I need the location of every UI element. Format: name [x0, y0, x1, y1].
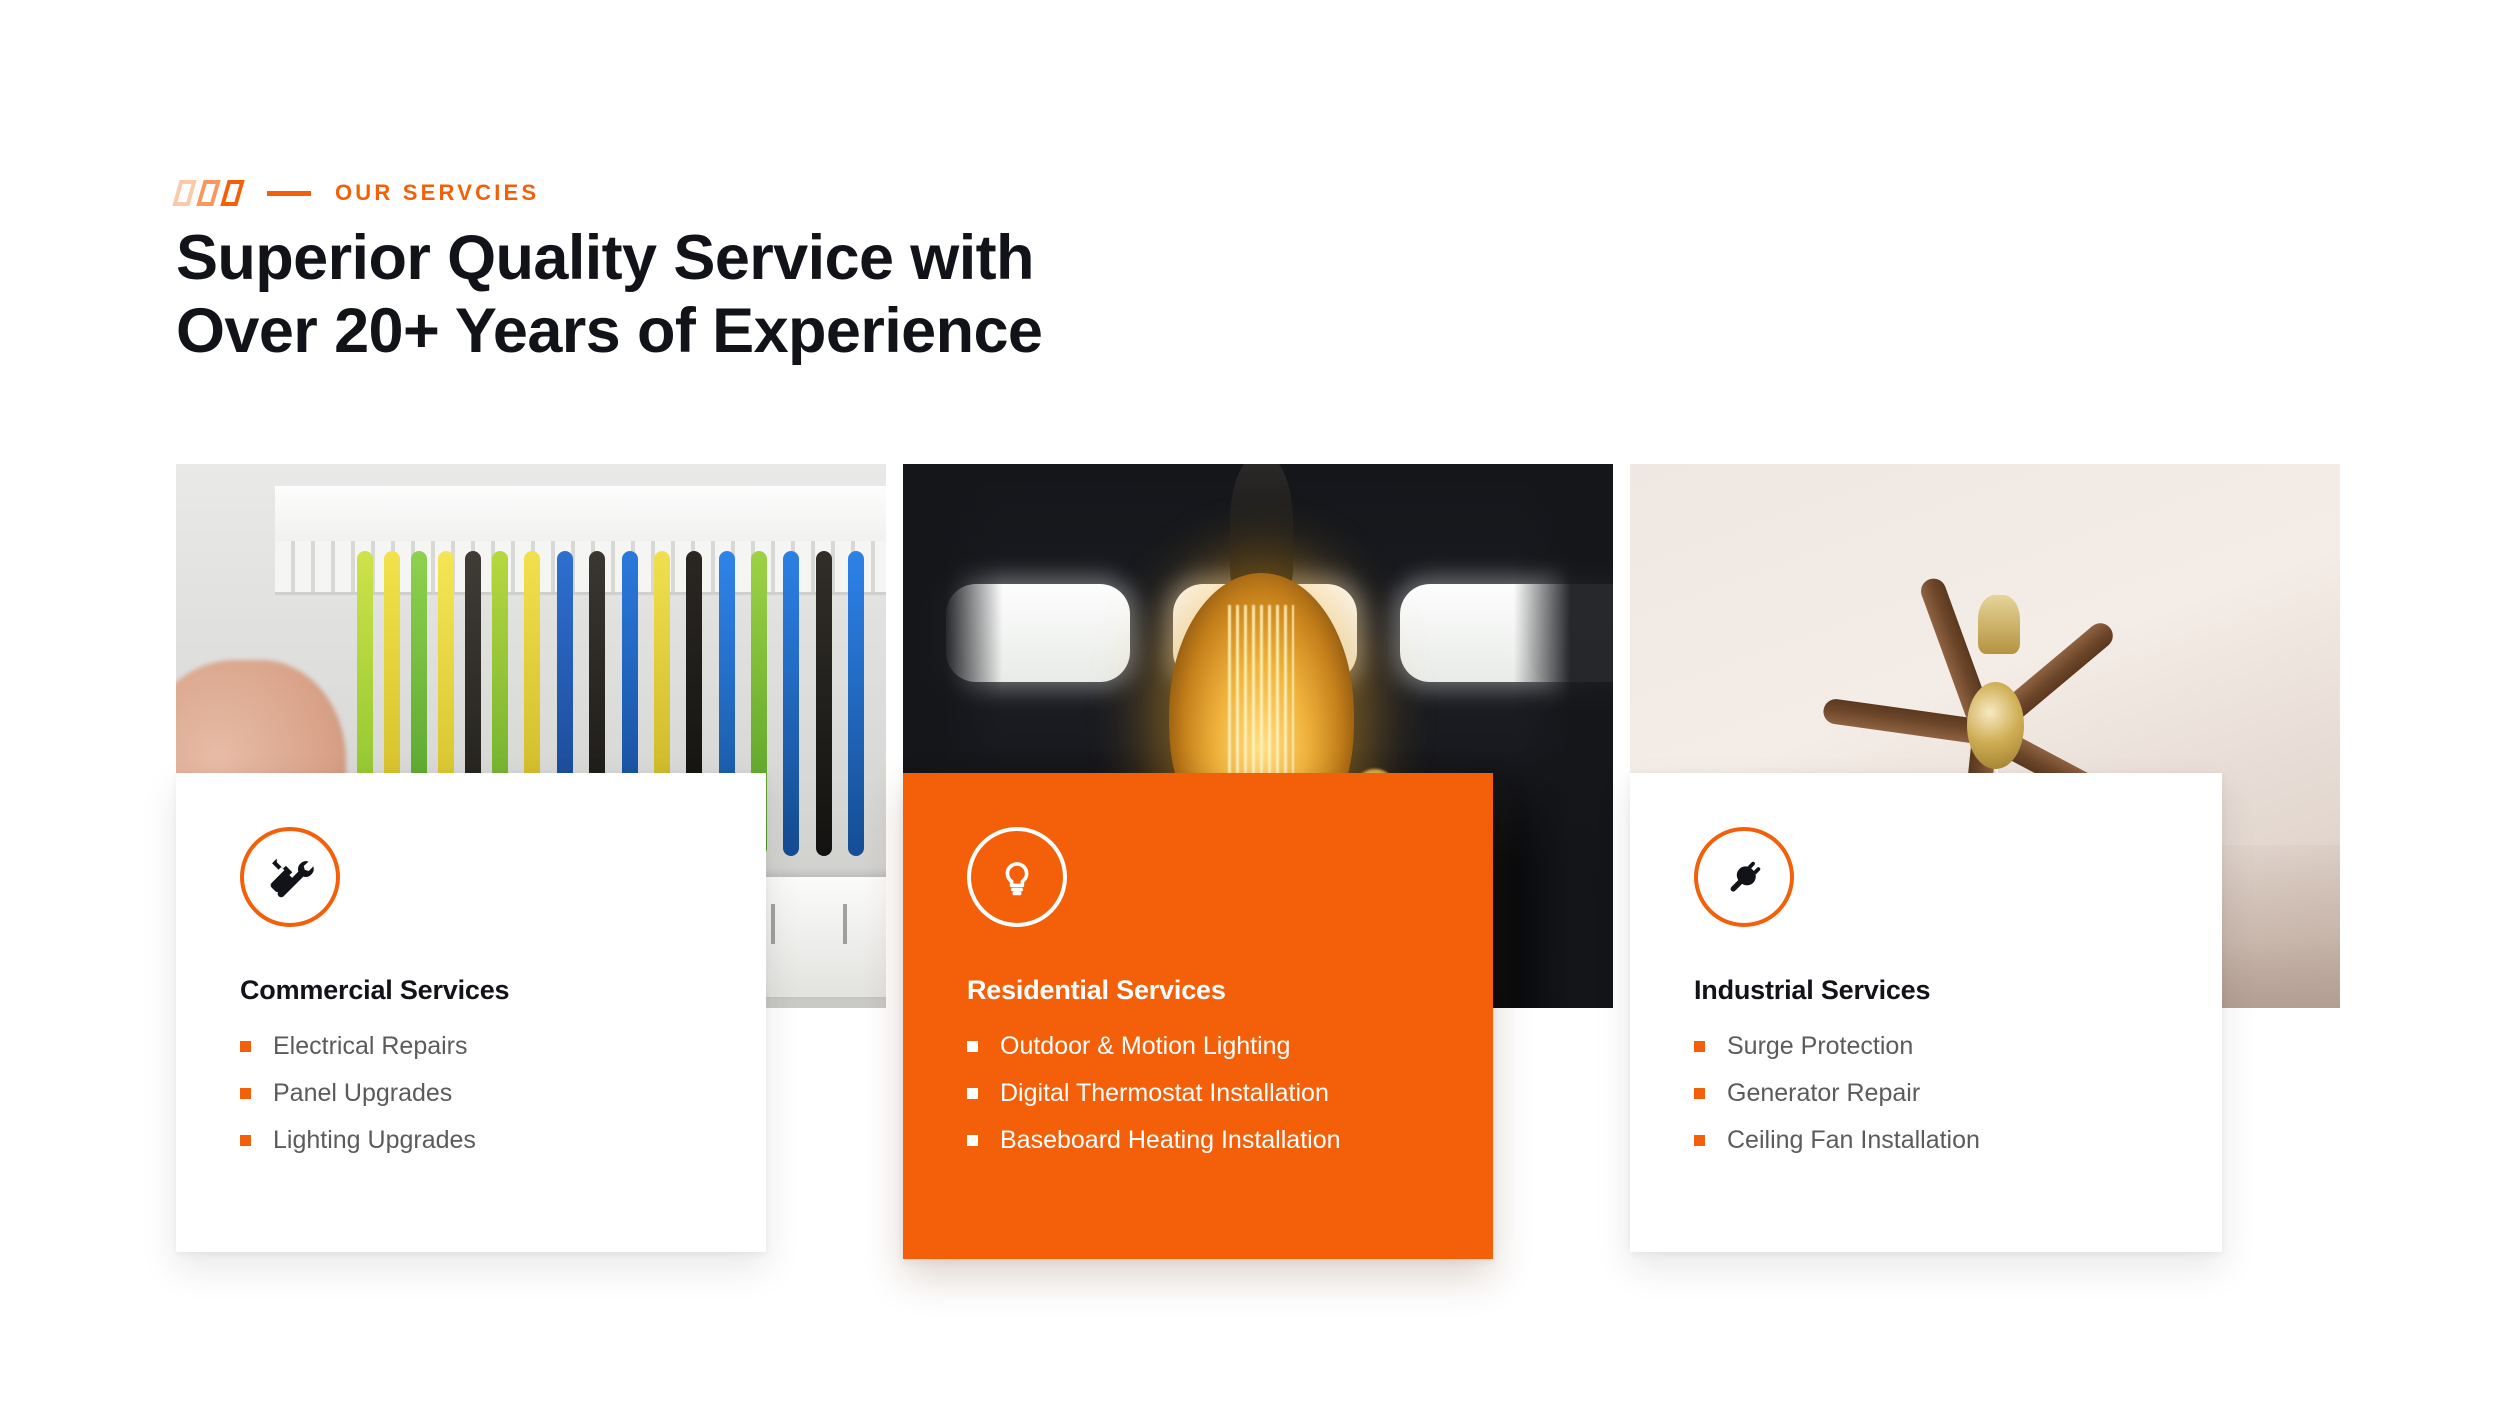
bullet-square-icon [240, 1041, 251, 1052]
service-item-label: Surge Protection [1727, 1032, 1913, 1061]
bullet-square-icon [240, 1135, 251, 1146]
list-item[interactable]: Outdoor & Motion Lighting [967, 1032, 1463, 1061]
list-item[interactable]: Baseboard Heating Installation [967, 1126, 1463, 1155]
service-card-title: Commercial Services [240, 975, 736, 1006]
service-item-list: Surge Protection Generator Repair Ceilin… [1694, 1032, 2192, 1155]
list-item[interactable]: Ceiling Fan Installation [1694, 1126, 2192, 1155]
service-card-panel-residential: Residential Services Outdoor & Motion Li… [903, 773, 1493, 1259]
bullet-square-icon [967, 1135, 978, 1146]
bullet-square-icon [1694, 1088, 1705, 1099]
service-item-label: Lighting Upgrades [273, 1126, 476, 1155]
service-card-title: Industrial Services [1694, 975, 2192, 1006]
bullet-square-icon [967, 1041, 978, 1052]
list-item[interactable]: Digital Thermostat Installation [967, 1079, 1463, 1108]
service-card-title: Residential Services [967, 975, 1463, 1006]
list-item[interactable]: Electrical Repairs [240, 1032, 736, 1061]
list-item[interactable]: Generator Repair [1694, 1079, 2192, 1108]
services-section: OUR SERVCIES Superior Quality Service wi… [0, 0, 2499, 1406]
lightbulb-icon [967, 827, 1067, 927]
service-item-label: Digital Thermostat Installation [1000, 1079, 1329, 1108]
service-cards-grid: Commercial Services Electrical Repairs P… [0, 0, 2499, 1406]
bullet-square-icon [1694, 1041, 1705, 1052]
service-item-label: Electrical Repairs [273, 1032, 468, 1061]
service-card-panel-industrial: Industrial Services Surge Protection Gen… [1630, 773, 2222, 1252]
bullet-square-icon [240, 1088, 251, 1099]
service-item-label: Panel Upgrades [273, 1079, 452, 1108]
service-item-label: Outdoor & Motion Lighting [1000, 1032, 1290, 1061]
service-item-list: Electrical Repairs Panel Upgrades Lighti… [240, 1032, 736, 1155]
list-item[interactable]: Lighting Upgrades [240, 1126, 736, 1155]
service-item-label: Baseboard Heating Installation [1000, 1126, 1341, 1155]
service-item-label: Ceiling Fan Installation [1727, 1126, 1980, 1155]
power-plug-icon [1694, 827, 1794, 927]
list-item[interactable]: Surge Protection [1694, 1032, 2192, 1061]
service-card-panel-commercial: Commercial Services Electrical Repairs P… [176, 773, 766, 1252]
hammer-wrench-icon [240, 827, 340, 927]
service-item-list: Outdoor & Motion Lighting Digital Thermo… [967, 1032, 1463, 1155]
bullet-square-icon [1694, 1135, 1705, 1146]
list-item[interactable]: Panel Upgrades [240, 1079, 736, 1108]
service-item-label: Generator Repair [1727, 1079, 1920, 1108]
bullet-square-icon [967, 1088, 978, 1099]
